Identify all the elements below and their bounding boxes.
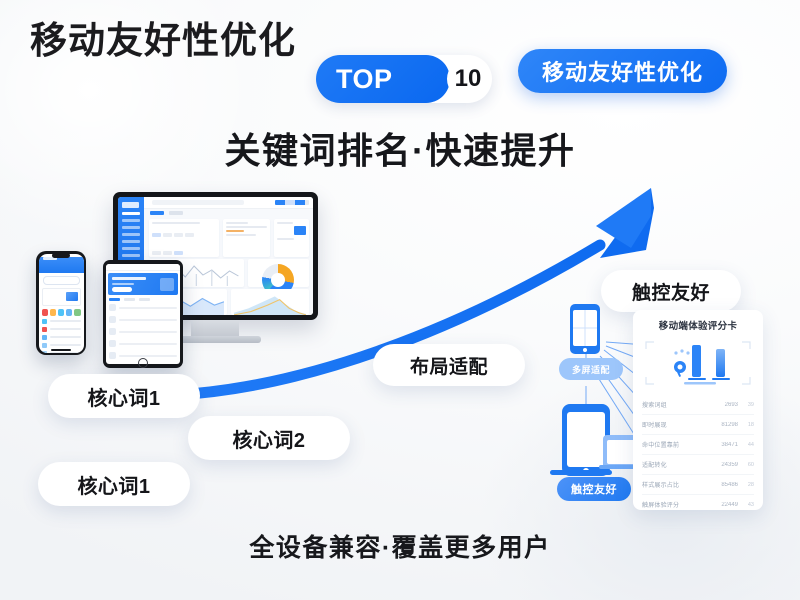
quick-icon [50, 309, 56, 316]
monitor-base [171, 336, 261, 343]
row-delta: 43 [738, 502, 754, 508]
quick-icon [74, 309, 80, 316]
row-label: 适配转化 [642, 460, 712, 469]
quick-icon [42, 309, 48, 316]
list-item [109, 340, 177, 347]
phone-notch [52, 253, 70, 258]
quick-icon [58, 309, 64, 316]
list-item [42, 335, 81, 340]
keyword-pill-3[interactable]: 核心词1 [38, 462, 190, 506]
keyword-pill-2[interactable]: 核心词2 [188, 416, 350, 460]
dashboard-nav-item [122, 219, 140, 222]
dashboard-nav-item [122, 226, 140, 229]
tablet-statusbar [106, 264, 180, 271]
dashboard-nav-item [122, 254, 140, 257]
list-item [109, 304, 177, 311]
tablet-banner-subtitle [112, 283, 134, 285]
scorecard-title: 移动端体验评分卡 [642, 318, 754, 332]
list-item [42, 343, 81, 348]
area-chart-icon [234, 292, 306, 315]
tablet-tabs [109, 298, 177, 301]
row-delta: 39 [738, 402, 754, 408]
dashboard-nav-item [122, 233, 140, 236]
dashboard-card-row-1 [149, 219, 309, 257]
list-item [109, 328, 177, 335]
dashboard-area-card [231, 289, 309, 315]
dashboard-tab [169, 211, 183, 215]
tablet-home-button [138, 358, 148, 368]
tablet-banner-button [112, 287, 132, 292]
list-item [42, 351, 81, 353]
table-row: 搜索词组 2693 39 [642, 395, 754, 415]
table-row: 适配转化 24359 60 [642, 455, 754, 475]
row-delta: 18 [738, 422, 754, 428]
header-tag-pill: 移动友好性优化 [518, 49, 727, 93]
footer-tagline: 全设备兼容·覆盖更多用户 [0, 528, 800, 564]
bar-chart-icon [642, 337, 754, 389]
list-item [42, 327, 81, 332]
poster-canvas: 移动友好性优化 TOP 10 移动友好性优化 关键词排名·快速提升 [0, 0, 800, 600]
tablet-list [109, 304, 177, 364]
device-cluster [25, 192, 345, 372]
dashboard-action-chips [275, 200, 309, 205]
layout-adapt-pill[interactable]: 布局适配 [373, 344, 525, 386]
top-rank-label: TOP [336, 64, 393, 95]
table-row: 命中位置靠前 38471 44 [642, 435, 754, 455]
row-delta: 28 [738, 482, 754, 488]
dashboard-nav-item [122, 247, 140, 250]
table-row: 样式展示占比 85486 28 [642, 475, 754, 495]
row-label: 即时展现 [642, 420, 712, 429]
multi-screen-pill: 多屏适配 [559, 358, 623, 380]
dashboard-donut-card [248, 259, 309, 287]
table-row: 即时展现 81298 18 [642, 415, 754, 435]
scorecard-hero-chart [642, 337, 754, 389]
smartphone-illustration [36, 251, 86, 355]
list-item [42, 319, 81, 324]
row-value: 85486 [712, 482, 738, 488]
dashboard-card [149, 219, 219, 257]
dashboard-nav-item [122, 212, 140, 215]
small-phone-icon [570, 304, 600, 354]
phone-home-indicator [51, 349, 71, 351]
quick-icon [66, 309, 72, 316]
phone-screen [39, 254, 84, 353]
dashboard-card [223, 219, 270, 257]
row-label: 命中位置靠前 [642, 440, 712, 449]
phone-quick-icons [42, 309, 81, 316]
top-rank-badge: TOP 10 [316, 55, 492, 103]
tablet-banner [108, 273, 178, 295]
tablet-tab [139, 298, 150, 301]
tablet-banner-title [112, 277, 146, 280]
dashboard-logo [122, 202, 139, 208]
row-value: 81298 [712, 422, 738, 428]
page-title: 移动友好性优化 [30, 22, 296, 59]
keyword-pill-1[interactable]: 核心词1 [48, 374, 200, 418]
tablet-screen [106, 264, 180, 364]
mobile-experience-scorecard: 移动端体验评分卡 [633, 310, 763, 510]
phone-header [39, 257, 84, 273]
tablet-illustration [103, 260, 183, 368]
row-label: 触屏体验评分 [642, 500, 712, 509]
dashboard-card [274, 219, 310, 257]
dashboard-search-field [152, 200, 244, 205]
row-value: 24359 [712, 462, 738, 468]
row-delta: 60 [738, 462, 754, 468]
phone-search-input [43, 276, 80, 285]
dashboard-nav-item [122, 240, 140, 243]
top-rank-badge-fill: TOP [316, 55, 450, 103]
tablet-banner-image [160, 278, 174, 291]
row-value: 38471 [712, 442, 738, 448]
scorecard-rows: 搜索词组 2693 39 即时展现 81298 18 命中位置靠前 38471 … [642, 395, 754, 514]
top-rank-number: 10 [447, 58, 489, 100]
list-item [109, 316, 177, 323]
dashboard-tabs [150, 211, 307, 219]
row-value: 2693 [712, 402, 738, 408]
phone-feature-card [42, 288, 81, 306]
row-delta: 44 [738, 442, 754, 448]
dashboard-tab [150, 211, 164, 215]
phone-result-list [42, 319, 81, 353]
tablet-tab [109, 298, 120, 301]
row-label: 搜索词组 [642, 400, 712, 409]
phone-card-thumbnail [66, 292, 78, 301]
tablet-tab [124, 298, 135, 301]
table-row: 触屏体验评分 22449 43 [642, 495, 754, 514]
row-label: 样式展示占比 [642, 480, 712, 489]
touch-friendly-badge: 触控友好 [557, 477, 631, 501]
dashboard-topbar [144, 197, 313, 209]
row-value: 22449 [712, 502, 738, 508]
